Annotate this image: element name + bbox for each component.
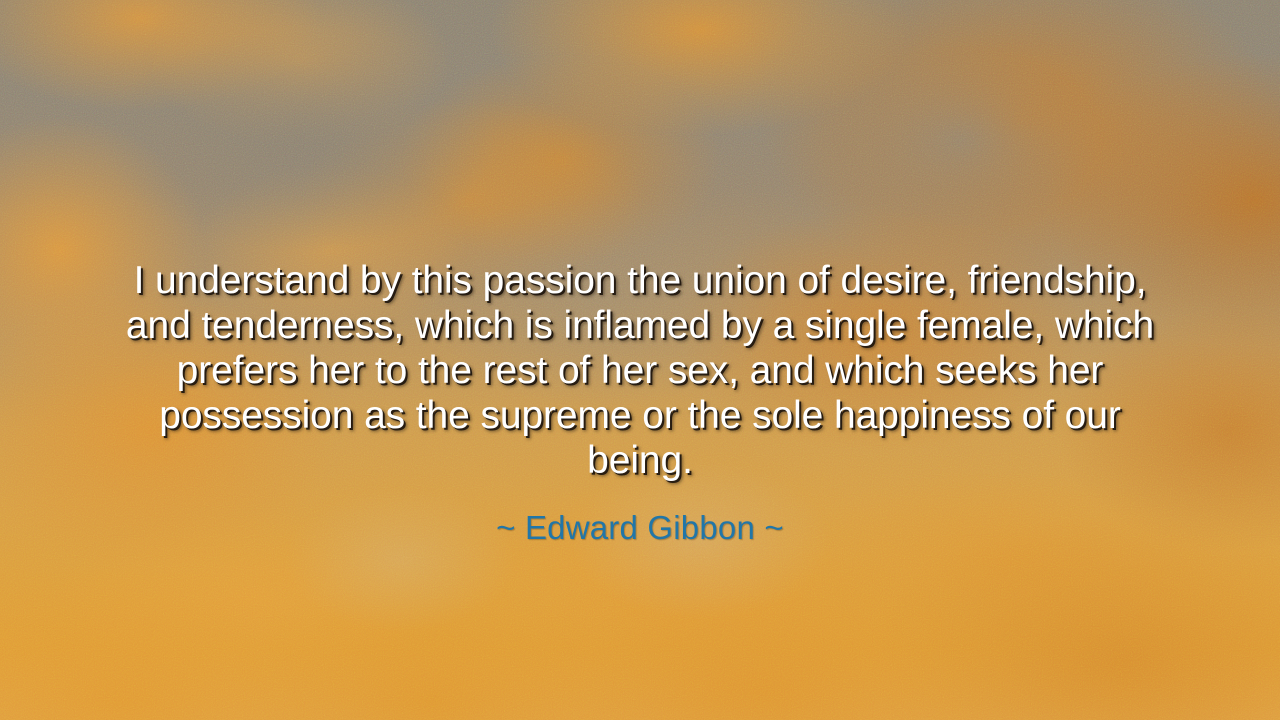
quote-line: possession as the supreme or the sole ha…: [159, 394, 1121, 482]
quote-text: I understand by this passion the union o…: [108, 258, 1172, 483]
quote-attribution: ~ Edward Gibbon ~: [0, 483, 1280, 548]
quote-block: I understand by this passion the union o…: [0, 258, 1280, 548]
quote-card: I understand by this passion the union o…: [0, 0, 1280, 720]
quote-line: prefers her to the rest of her sex, and …: [177, 349, 1104, 392]
quote-line: I understand by this passion the union o…: [134, 259, 1147, 302]
quote-line: and tenderness, which is inflamed by a s…: [126, 304, 1154, 347]
